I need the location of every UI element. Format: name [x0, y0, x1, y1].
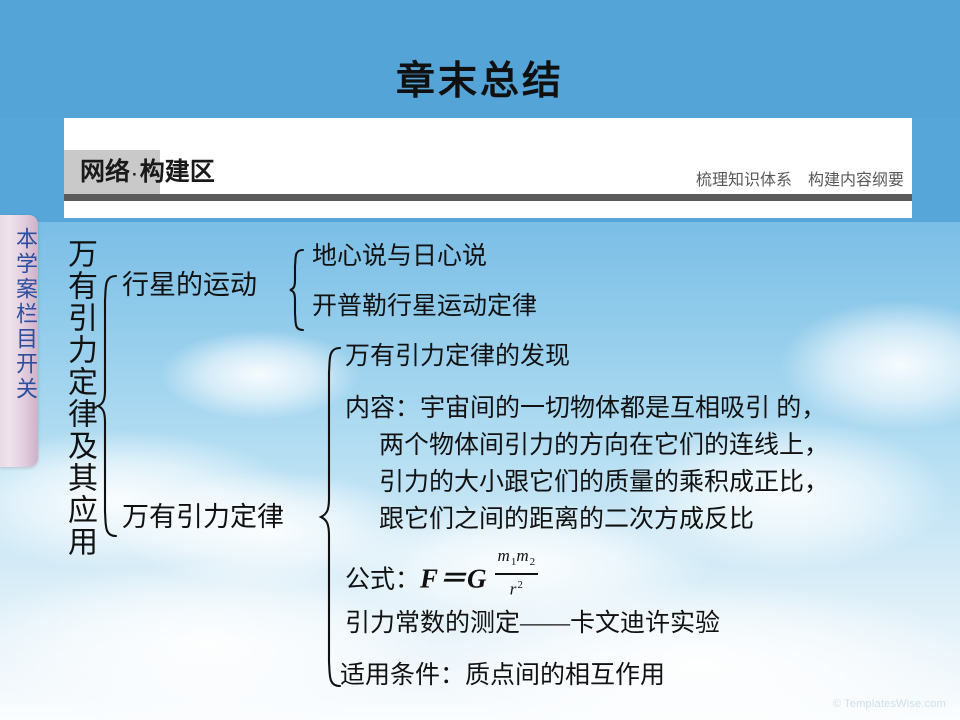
watermark: © TemplatesWise.com	[833, 697, 946, 711]
slide-canvas: 章末总结 网络·构建区 梳理知识体系构建内容纲要 本学案栏目开关 万有引力定律及…	[0, 0, 960, 720]
brace-branch-1	[290, 250, 303, 330]
tree-braces	[0, 0, 960, 720]
brace-branch-2	[321, 348, 340, 686]
mindmap-tree: 万有引力定律及其应用 行星的运动 万有引力定律 地心说与日心说 开普勒行星运动定…	[0, 0, 960, 720]
brace-root	[98, 276, 116, 536]
